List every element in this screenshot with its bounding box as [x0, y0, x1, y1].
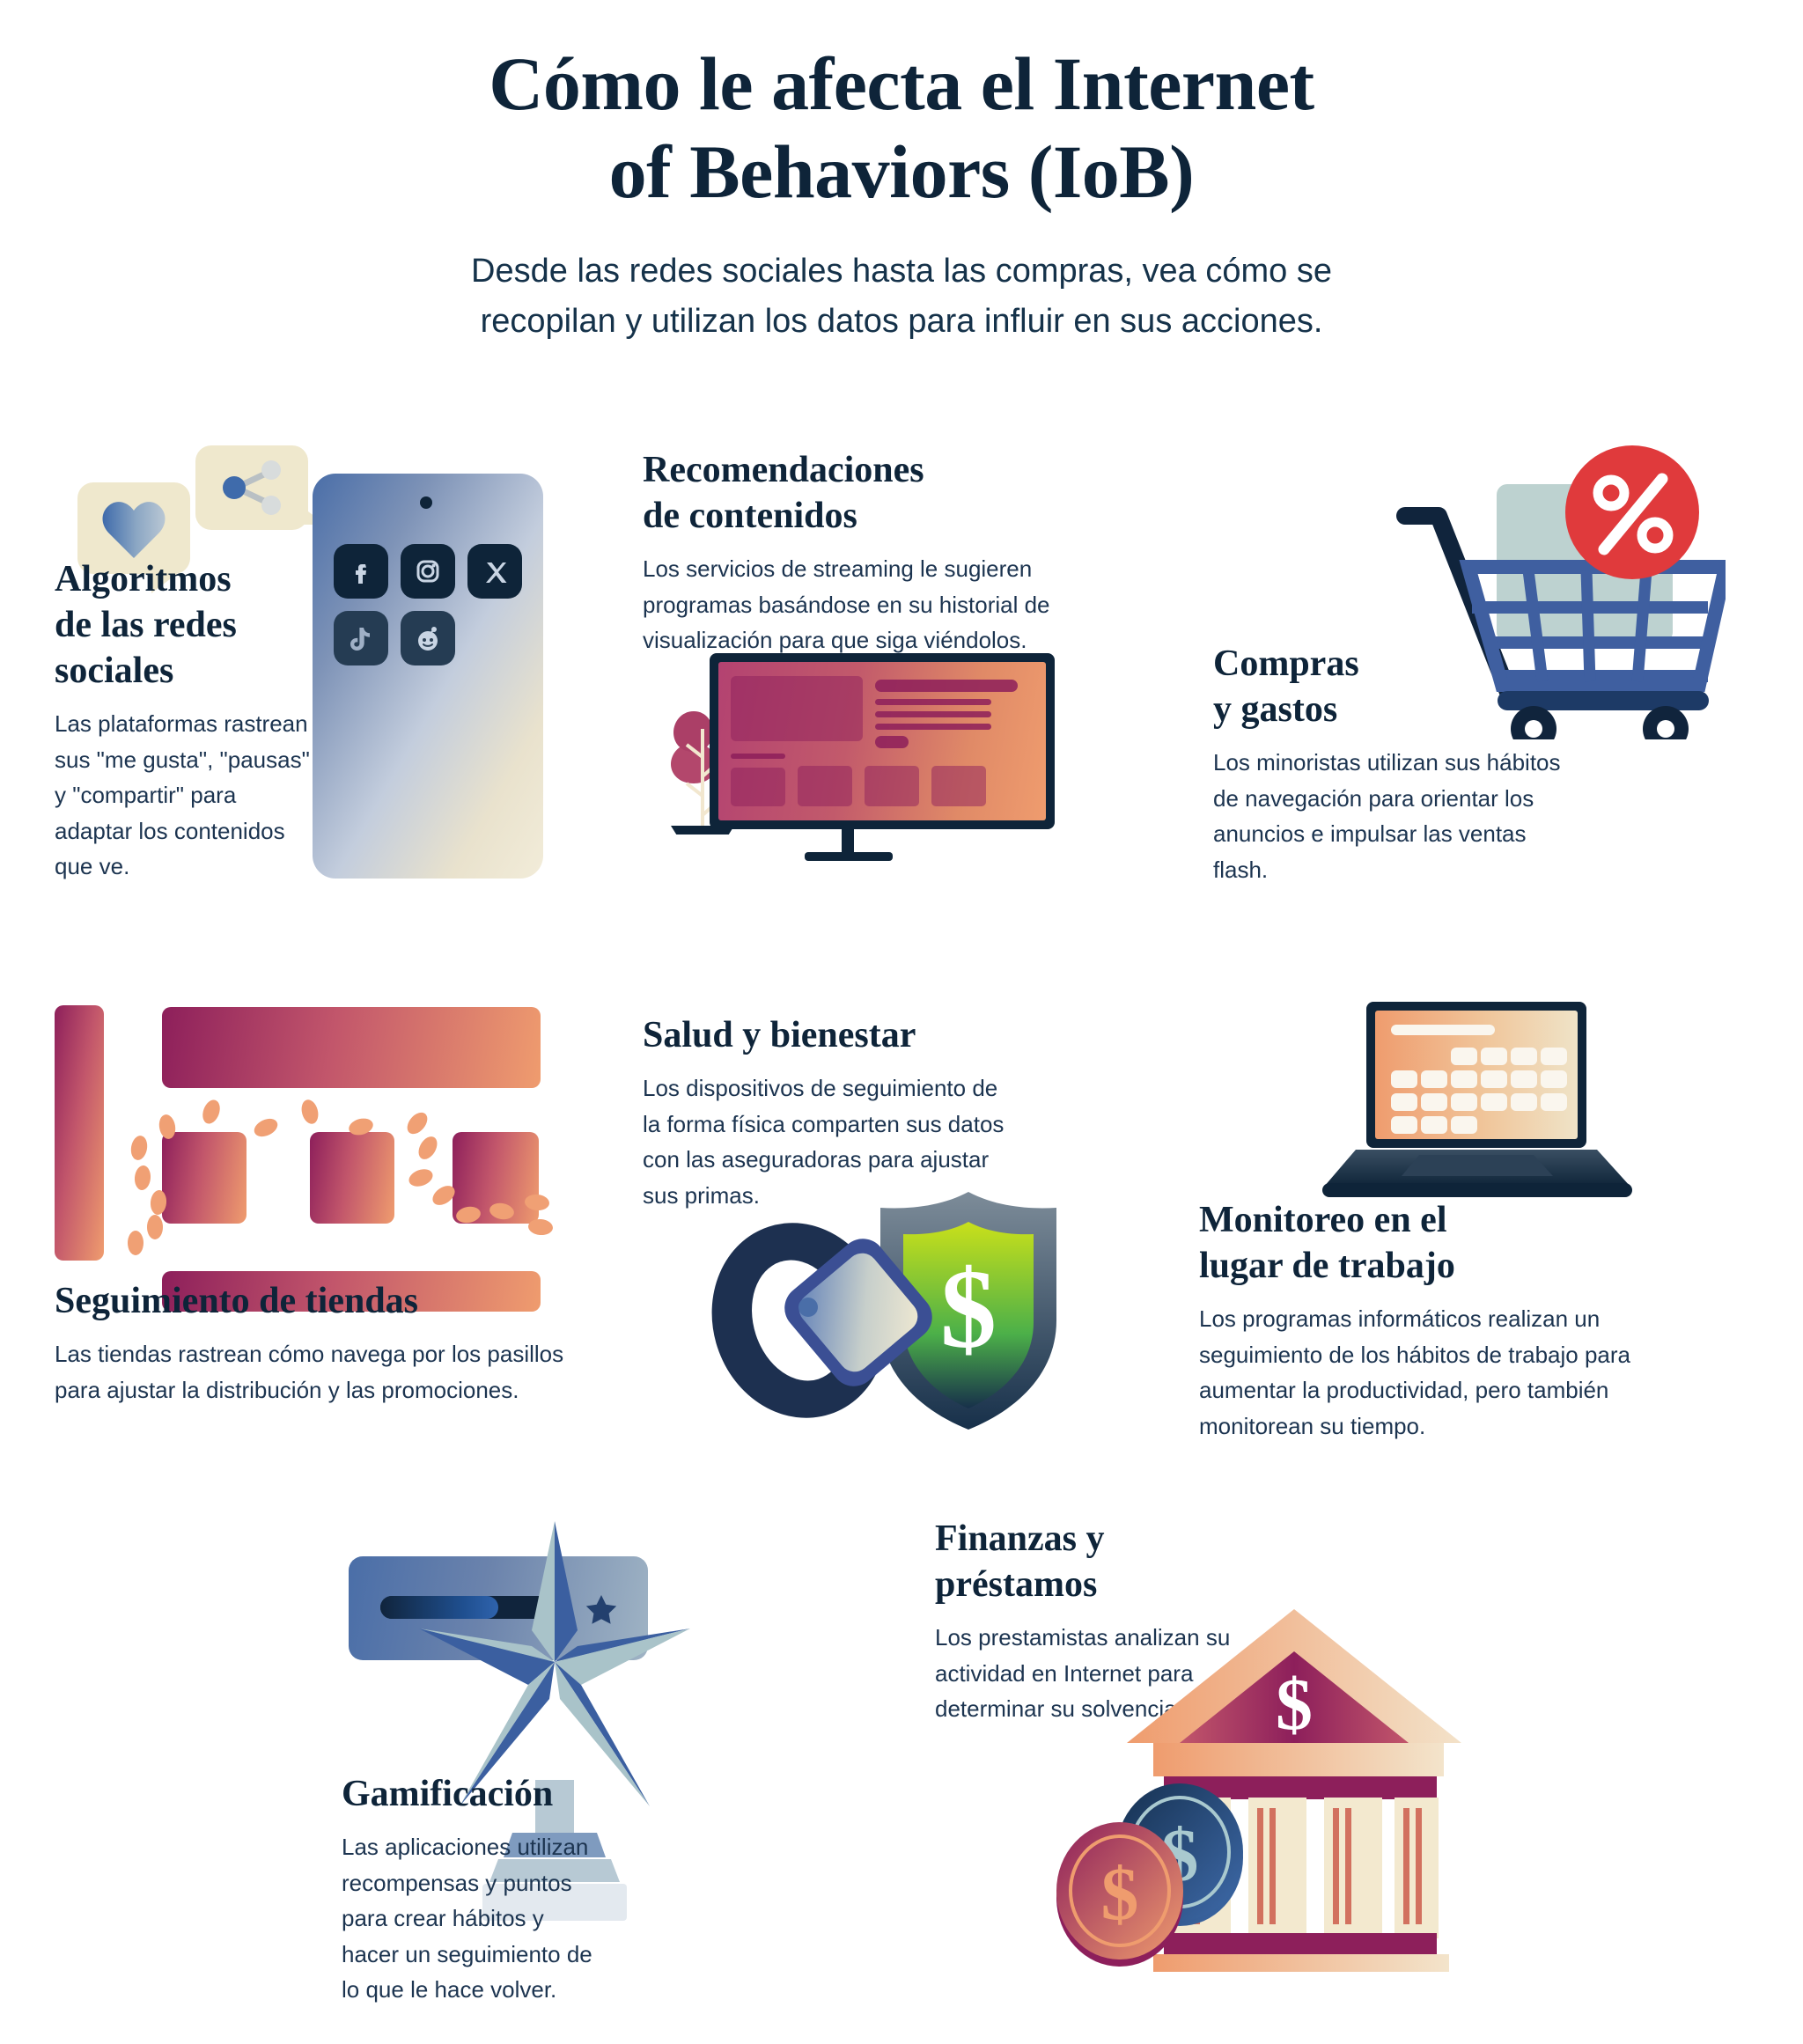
percent-badge-icon: [1565, 445, 1699, 579]
page-title: Cómo le afecta el Internet of Behaviors …: [0, 40, 1803, 217]
section-body: Las tiendas rastrean cómo navega por los…: [55, 1336, 565, 1408]
page-title-line-2: of Behaviors (IoB): [0, 129, 1803, 217]
bank-illustration: $: [1021, 1602, 1479, 1972]
footprints-icon: [55, 975, 565, 1266]
infographic-page: Cómo le afecta el Internet of Behaviors …: [0, 0, 1803, 2044]
section-content-recommendations: Recomendaciones de contenidos Los servic…: [643, 447, 1092, 658]
section-body: Las plataformas rastrean sus "me gusta",…: [55, 706, 319, 885]
star-trophy-icon: [419, 1521, 690, 1806]
page-header: Cómo le afecta el Internet of Behaviors …: [0, 0, 1803, 347]
television-illustration: [632, 653, 1055, 856]
tv-bezel: [710, 653, 1055, 829]
section-body: Los programas informáticos realizan un s…: [1199, 1301, 1727, 1444]
instagram-icon: [401, 544, 455, 599]
page-subtitle: Desde las redes sociales hasta las compr…: [0, 246, 1803, 347]
smartphone-illustration: [313, 474, 543, 879]
svg-text:$: $: [940, 1246, 997, 1371]
coin-icon: $: [1056, 1822, 1183, 1967]
share-speech-bubble: [195, 445, 308, 530]
section-workplace-monitoring: Monitoreo en el lugar de trabajo Los pro…: [1199, 1197, 1727, 1444]
section-title: Seguimiento de tiendas: [55, 1278, 565, 1324]
section-body: Los minoristas utilizan sus hábitos de n…: [1213, 745, 1583, 887]
store-floorplan-illustration: [55, 975, 565, 1259]
section-gamification: Gamificación Las aplicaciones utilizan r…: [342, 1771, 606, 2008]
section-title: Gamificación: [342, 1771, 606, 1817]
phone-camera-dot: [420, 496, 432, 509]
section-title: Finanzas y préstamos: [935, 1516, 1234, 1607]
page-title-line-1: Cómo le afecta el Internet: [0, 40, 1803, 129]
section-purchases-spending: Compras y gastos Los minoristas utilizan…: [1213, 641, 1583, 887]
social-icon-grid: [334, 544, 522, 665]
section-body: Los servicios de streaming le sugieren p…: [643, 551, 1092, 658]
section-title: Monitoreo en el lugar de trabajo: [1199, 1197, 1727, 1289]
section-store-tracking: Seguimiento de tiendas Las tiendas rastr…: [55, 1278, 565, 1408]
section-body: Las aplicaciones utilizan recompensas y …: [342, 1829, 606, 2008]
section-title: Salud y bienestar: [643, 1012, 1021, 1058]
section-social-algorithms: Algoritmos de las redes sociales Las pla…: [55, 556, 319, 885]
tiktok-icon: [334, 611, 388, 665]
svg-text:$: $: [1101, 1851, 1139, 1936]
section-title: Algoritmos de las redes sociales: [55, 556, 319, 694]
reddit-icon: [401, 611, 455, 665]
share-icon: [195, 445, 308, 530]
page-subtitle-line-2: recopilan y utilizan los datos para infl…: [0, 297, 1803, 347]
facebook-icon: [334, 544, 388, 599]
section-title: Recomendaciones de contenidos: [643, 447, 1092, 539]
tv-foot: [805, 852, 893, 861]
laptop-illustration: [1321, 986, 1637, 1206]
section-title: Compras y gastos: [1213, 641, 1583, 732]
x-twitter-icon: [467, 544, 522, 599]
tv-screen: [718, 662, 1046, 820]
health-illustration: $: [704, 1180, 1109, 1435]
svg-text:$: $: [1276, 1664, 1313, 1746]
page-subtitle-line-1: Desde las redes sociales hasta las compr…: [0, 246, 1803, 297]
